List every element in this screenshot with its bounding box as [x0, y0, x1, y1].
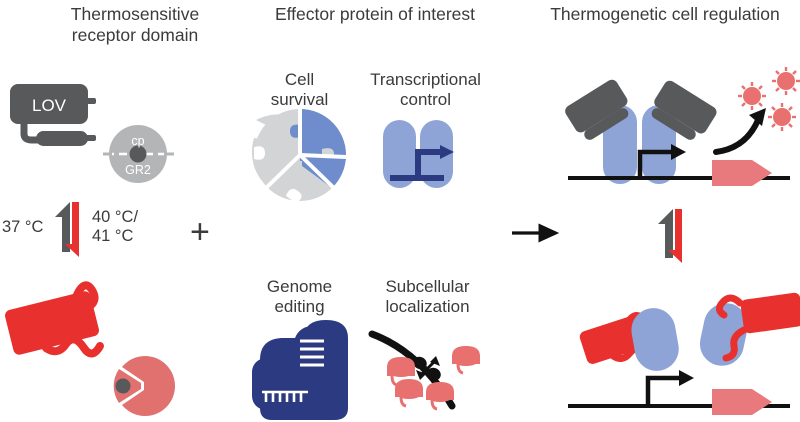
cpgr2-label-top: cp	[131, 134, 144, 148]
assembled-complex-top	[563, 67, 800, 186]
thermogenetics-figure: Thermosensitive receptor domain Effector…	[0, 0, 800, 422]
transcriptional-control-icon	[383, 120, 454, 188]
diagram-graphics: LOV cp GR2	[0, 0, 800, 422]
lov-domain-red-unfolded	[4, 285, 101, 356]
dissociated-unit-right	[696, 292, 800, 370]
cell-survival-icon	[252, 109, 346, 203]
dissociated-complex-bottom	[568, 292, 800, 415]
genome-editing-icon	[252, 320, 348, 420]
subcellular-localization-icon	[372, 334, 480, 409]
dissociated-unit-left	[578, 305, 682, 375]
temperature-transition-arrows-left	[55, 202, 79, 257]
lov-domain-text: LOV	[32, 96, 67, 115]
cpgr2-label-bottom: GR2	[125, 163, 151, 177]
cpgr2-circle-open	[114, 356, 175, 416]
lov-domain-dark: LOV	[10, 84, 96, 146]
temperature-transition-arrows-right	[658, 209, 682, 263]
cpgr2-circle-closed: cp GR2	[103, 125, 174, 183]
protein-products	[738, 67, 800, 131]
